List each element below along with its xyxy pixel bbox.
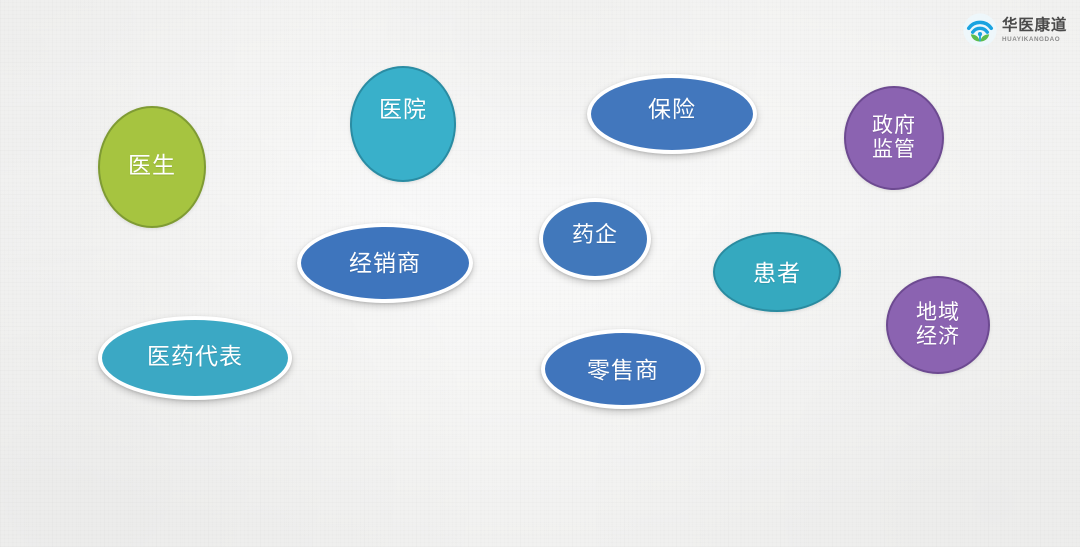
brand-name-cn: 华医康道 — [1002, 18, 1067, 34]
node-hospital[interactable]: 医院 — [350, 66, 456, 182]
node-label: 药企 — [572, 224, 618, 249]
node-doctor[interactable]: 医生 — [98, 106, 206, 228]
node-patient[interactable]: 患者 — [713, 232, 841, 312]
node-label: 地域 经济 — [916, 301, 960, 348]
node-pharma-company[interactable]: 药企 — [539, 198, 651, 280]
node-regional-economy[interactable]: 地域 经济 — [886, 276, 990, 374]
node-label: 患者 — [753, 262, 801, 288]
node-label: 保险 — [648, 98, 696, 124]
node-insurance[interactable]: 保险 — [587, 74, 757, 154]
node-label: 经销商 — [349, 252, 421, 278]
node-distributor[interactable]: 经销商 — [297, 223, 473, 303]
node-label: 医院 — [379, 98, 427, 124]
node-label: 医生 — [128, 154, 176, 180]
node-government-regulation[interactable]: 政府 监管 — [844, 86, 944, 190]
brand-logo: 华医康道 HUAYIKANGDAO — [963, 8, 1075, 52]
node-label: 政府 监管 — [872, 114, 916, 161]
node-label: 零售商 — [587, 359, 659, 385]
node-retailer[interactable]: 零售商 — [541, 329, 705, 409]
wifi-signal-leaf-icon — [963, 13, 997, 47]
brand-logo-text: 华医康道 HUAYIKANGDAO — [1002, 17, 1067, 43]
node-label: 医药代表 — [147, 345, 243, 371]
brand-name-en: HUAYIKANGDAO — [1002, 37, 1067, 43]
node-medical-representative[interactable]: 医药代表 — [98, 316, 292, 400]
diagram-canvas: 医生医院保险政府 监管经销商药企患者地域 经济医药代表零售商 华医康道 HUAY… — [0, 0, 1080, 547]
